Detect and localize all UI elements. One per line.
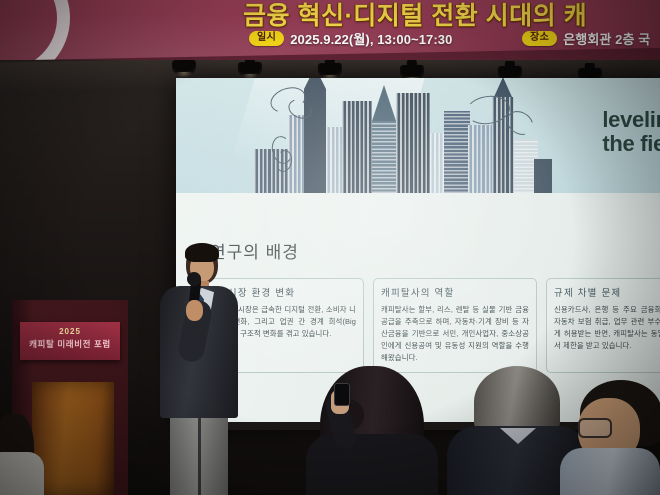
- audience-member-left-body: [0, 452, 44, 495]
- stage-light-icon: [172, 60, 196, 74]
- building-spire: [494, 78, 512, 97]
- audience-woman-body: [306, 434, 438, 495]
- slide-section-title: 연구의 배경: [210, 238, 299, 263]
- slide-column: 규제 차별 문제 신용카드사, 은행 등 주요 금융회사는 대리점, 자동차 보…: [546, 278, 660, 373]
- column-body: 캐피탈사는 할부, 리스, 렌탈 등 실물 기반 금융 공급을 주축으로 하며,…: [381, 304, 529, 364]
- banner-when-pill: 일시: [249, 31, 284, 47]
- building-spire: [304, 78, 326, 89]
- building-shape: [372, 121, 396, 193]
- podium-sign: 2025 캐피탈 미래비전 포럼: [20, 322, 120, 360]
- event-banner: 금융 혁신·디지털 전환 시대의 캐 일시 2025.9.22(월), 13:0…: [0, 0, 660, 60]
- column-heading: 캐피탈사의 역할: [381, 285, 529, 299]
- building-shape: [396, 93, 430, 193]
- podium-sign-title: 캐피탈 미래비전 포럼: [20, 338, 120, 350]
- stage-light-icon: [238, 62, 262, 76]
- slide-column: 캐피탈사의 역할 캐피탈사는 할부, 리스, 렌탈 등 실물 기반 금융 공급을…: [373, 278, 537, 373]
- slide-column-group: 금융시장 환경 변화 국내 금융시장은 급속한 디지털 전환, 소비자 니즈의 …: [200, 278, 660, 373]
- building-shape: [326, 127, 342, 193]
- microphone-head-icon: [187, 272, 201, 286]
- banner-where-value: 은행회관 2층 국: [563, 29, 650, 48]
- smartphone-icon: [334, 383, 350, 406]
- conference-photo-scene: leveling the field 연구의 배경 금융시장 환경 변화 국내 …: [0, 0, 660, 495]
- banner-when-value: 2025.9.22(월), 13:00~17:30: [290, 29, 452, 48]
- banner-where-pill: 장소: [522, 31, 557, 47]
- slide-hero-headline: leveling the field: [602, 108, 660, 156]
- speaker-hair: [185, 243, 219, 262]
- wooden-podium: [32, 382, 114, 495]
- hero-headline-line-1: leveling: [602, 108, 660, 132]
- column-heading: 규제 차별 문제: [554, 285, 660, 299]
- building-shape: [342, 101, 372, 193]
- column-body: 신용카드사, 은행 등 주요 금융회사는 대리점, 자동차 보험 취급, 업무 …: [554, 304, 660, 352]
- audience-man-right-body: [560, 448, 660, 495]
- banner-venue-row: 장소 은행회관 2층 국: [522, 29, 650, 48]
- slide-hero-band: leveling the field: [176, 78, 660, 193]
- speaker-leg-divider: [198, 418, 201, 495]
- banner-datetime-row: 일시 2025.9.22(월), 13:00~17:30: [249, 29, 452, 48]
- building-shape: [534, 159, 552, 193]
- projection-screen: leveling the field 연구의 배경 금융시장 환경 변화 국내 …: [176, 78, 660, 430]
- hero-headline-line-2: the field: [602, 132, 660, 156]
- stage-light-icon: [318, 63, 342, 77]
- speaker-hand: [186, 300, 203, 321]
- banner-title: 금융 혁신·디지털 전환 시대의 캐: [243, 0, 587, 32]
- podium-sign-year: 2025: [20, 327, 120, 336]
- building-shape: [444, 111, 470, 193]
- eyeglasses-icon: [578, 418, 612, 438]
- building-spire: [372, 85, 396, 121]
